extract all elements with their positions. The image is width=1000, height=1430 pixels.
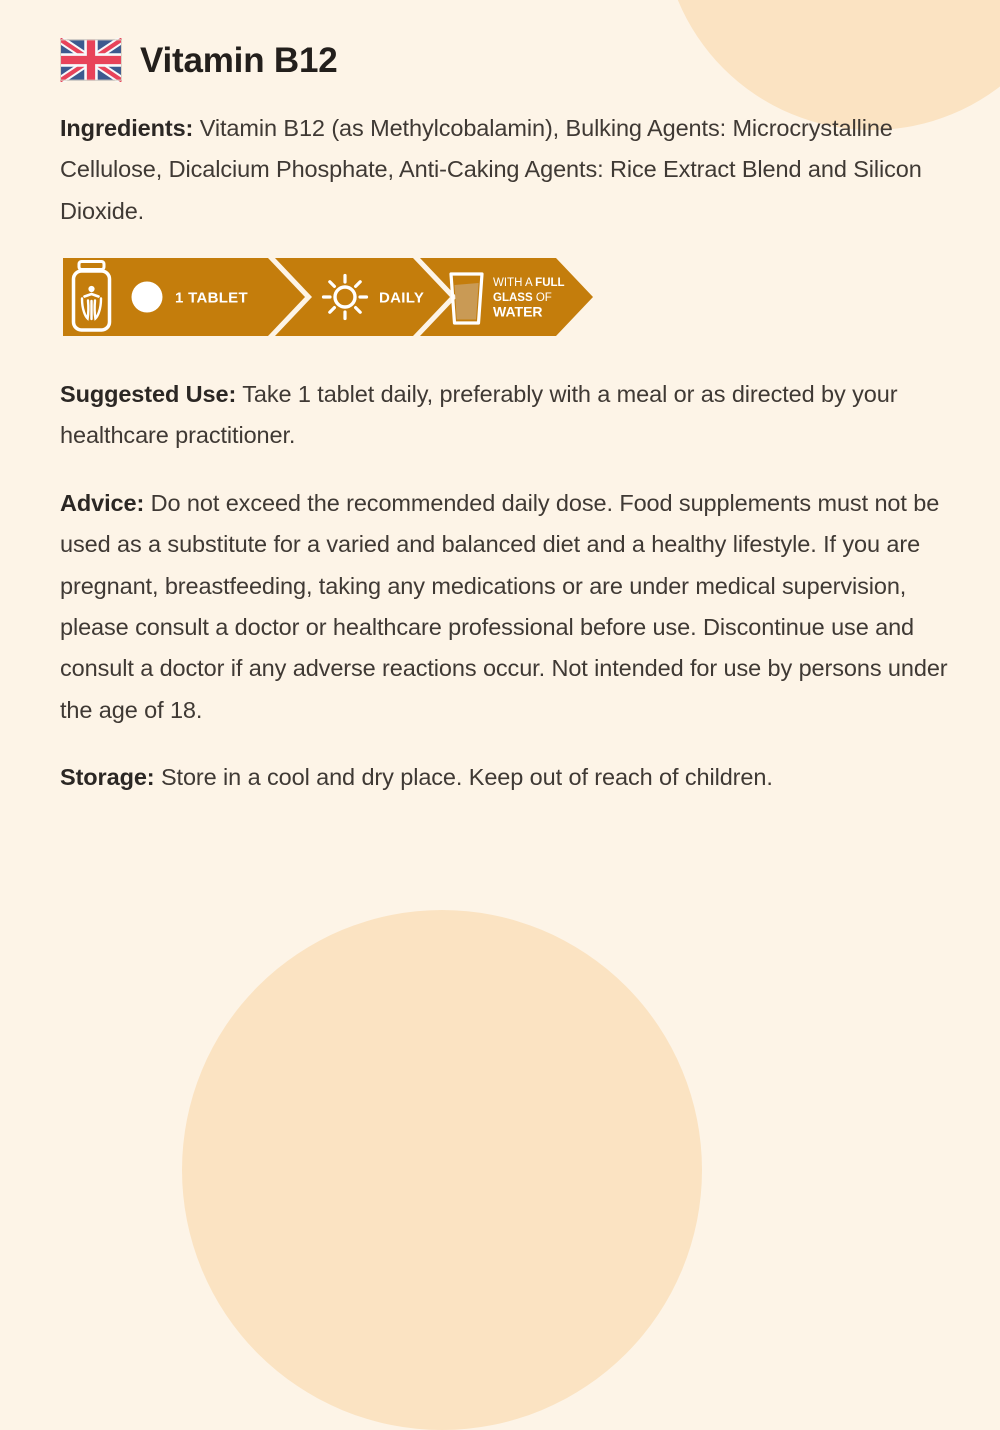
advice-text: Do not exceed the recommended daily dose… xyxy=(60,490,948,723)
tablet-pill-icon xyxy=(132,282,163,313)
ingredients-paragraph: Ingredients: Vitamin B12 (as Methylcobal… xyxy=(60,108,950,232)
suggested-use-label: Suggested Use: xyxy=(60,381,236,407)
product-info-panel: Vitamin B12 Ingredients: Vitamin B12 (as… xyxy=(0,0,1000,798)
dosage-label-3-line-2: GLASS OF xyxy=(493,292,552,304)
uk-flag-icon xyxy=(60,38,122,82)
dosage-label-1: 1 TABLET xyxy=(175,290,248,307)
storage-paragraph: Storage: Store in a cool and dry place. … xyxy=(60,757,950,798)
suggested-use-paragraph: Suggested Use: Take 1 tablet daily, pref… xyxy=(60,374,950,457)
dosage-label-3-line-1: WITH A FULL xyxy=(493,277,565,289)
storage-text: Store in a cool and dry place. Keep out … xyxy=(155,764,773,790)
dosage-instruction-banner: 1 TABLET DAILY xyxy=(63,258,593,336)
storage-label: Storage: xyxy=(60,764,155,790)
advice-paragraph: Advice: Do not exceed the recommended da… xyxy=(60,483,950,731)
dosage-label-3-line-3: WATER xyxy=(493,304,543,320)
advice-label: Advice: xyxy=(60,490,144,516)
decorative-circle-bottom xyxy=(182,910,702,1430)
page-title: Vitamin B12 xyxy=(140,43,338,78)
ingredients-label: Ingredients: xyxy=(60,115,193,141)
dosage-label-2: DAILY xyxy=(379,290,424,307)
page-header: Vitamin B12 xyxy=(60,38,950,82)
